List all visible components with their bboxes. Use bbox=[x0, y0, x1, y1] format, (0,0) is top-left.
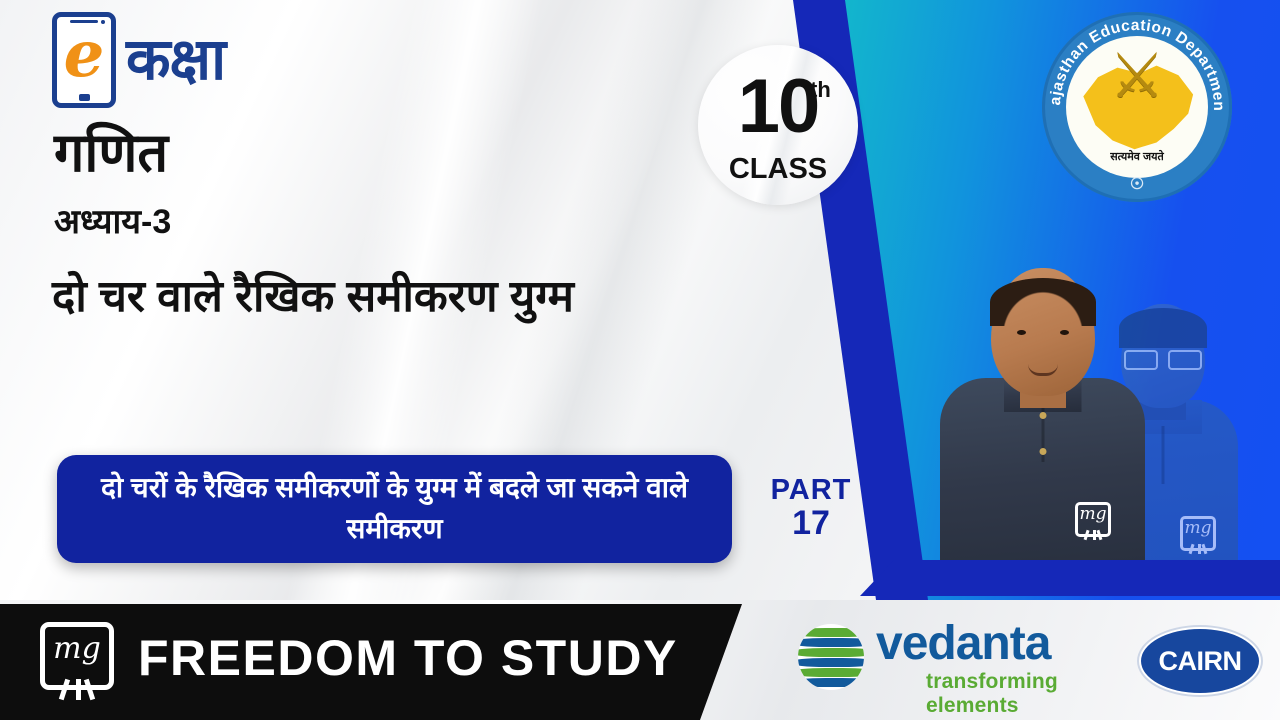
class-badge: 10 th CLASS bbox=[698, 45, 858, 205]
cairn-logo: CAIRN bbox=[1139, 627, 1261, 695]
teacher-photo-group: mg mg bbox=[900, 220, 1280, 596]
caption-text: दो चरों के रैखिक समीकरणों के युग्म में ब… bbox=[75, 468, 715, 549]
rajasthan-education-department-seal: Rajasthan Education Department ⚔ सत्यमेव… bbox=[1042, 12, 1232, 202]
seal-inner-disc: ⚔ सत्यमेव जयते bbox=[1066, 36, 1208, 178]
vedanta-wordmark: vedanta bbox=[876, 620, 1050, 668]
vedanta-tagline: transforming elements bbox=[926, 670, 1128, 718]
vedanta-globe-icon bbox=[798, 624, 864, 690]
mg-chalkboard-icon: mg bbox=[1176, 514, 1220, 554]
footer-tagline: FREEDOM TO STUDY bbox=[138, 628, 678, 688]
chakra-icon: ☉ bbox=[1042, 174, 1232, 194]
slide-canvas: mg mg bbox=[0, 0, 1280, 720]
caption-box: दो चरों के रैखिक समीकरणों के युग्म में ब… bbox=[57, 455, 732, 563]
class-word: CLASS bbox=[698, 153, 858, 186]
ekaksha-logo[interactable]: e कक्षा bbox=[52, 12, 225, 108]
mg-chalkboard-icon: mg bbox=[36, 620, 118, 700]
logo-wordmark: कक्षा bbox=[126, 31, 225, 89]
part-number: 17 bbox=[756, 505, 866, 542]
shirt-button-top bbox=[1039, 412, 1046, 419]
class-ordinal-suffix: th bbox=[810, 77, 831, 103]
cairn-wordmark: CAIRN bbox=[1159, 646, 1242, 677]
mg-chalkboard-icon: mg bbox=[1071, 500, 1115, 540]
smartphone-icon: e bbox=[52, 12, 116, 108]
back-placket bbox=[1162, 426, 1165, 484]
front-eye-left bbox=[1017, 330, 1026, 335]
subject-title: गणित bbox=[54, 126, 168, 180]
front-hair bbox=[990, 278, 1096, 326]
part-label: PART 17 bbox=[756, 475, 866, 543]
ashoka-lion-capital-icon: ⚔ bbox=[1066, 46, 1208, 108]
mg-badge-text: mg bbox=[1071, 506, 1115, 523]
front-mouth bbox=[1028, 364, 1058, 376]
mg-badge-text: mg bbox=[1176, 520, 1220, 537]
shirt-button-bottom bbox=[1039, 448, 1046, 455]
front-eye-right bbox=[1060, 330, 1069, 335]
mg-icon-text: mg bbox=[36, 634, 118, 664]
class-number: 10 bbox=[698, 69, 858, 145]
part-word: PART bbox=[756, 475, 866, 505]
logo-letter-e: e bbox=[57, 23, 111, 87]
teacher-front-portrait: mg bbox=[940, 256, 1145, 596]
front-head bbox=[991, 268, 1095, 396]
seal-motto: सत्यमेव जयते bbox=[1066, 149, 1208, 164]
chapter-label: अध्याय-3 bbox=[54, 205, 171, 239]
topic-title: दो चर वाले रैखिक समीकरण युग्म bbox=[52, 268, 772, 326]
photo-bottom-blue-band bbox=[860, 560, 1280, 596]
vedanta-logo: vedanta transforming elements bbox=[798, 618, 1128, 702]
